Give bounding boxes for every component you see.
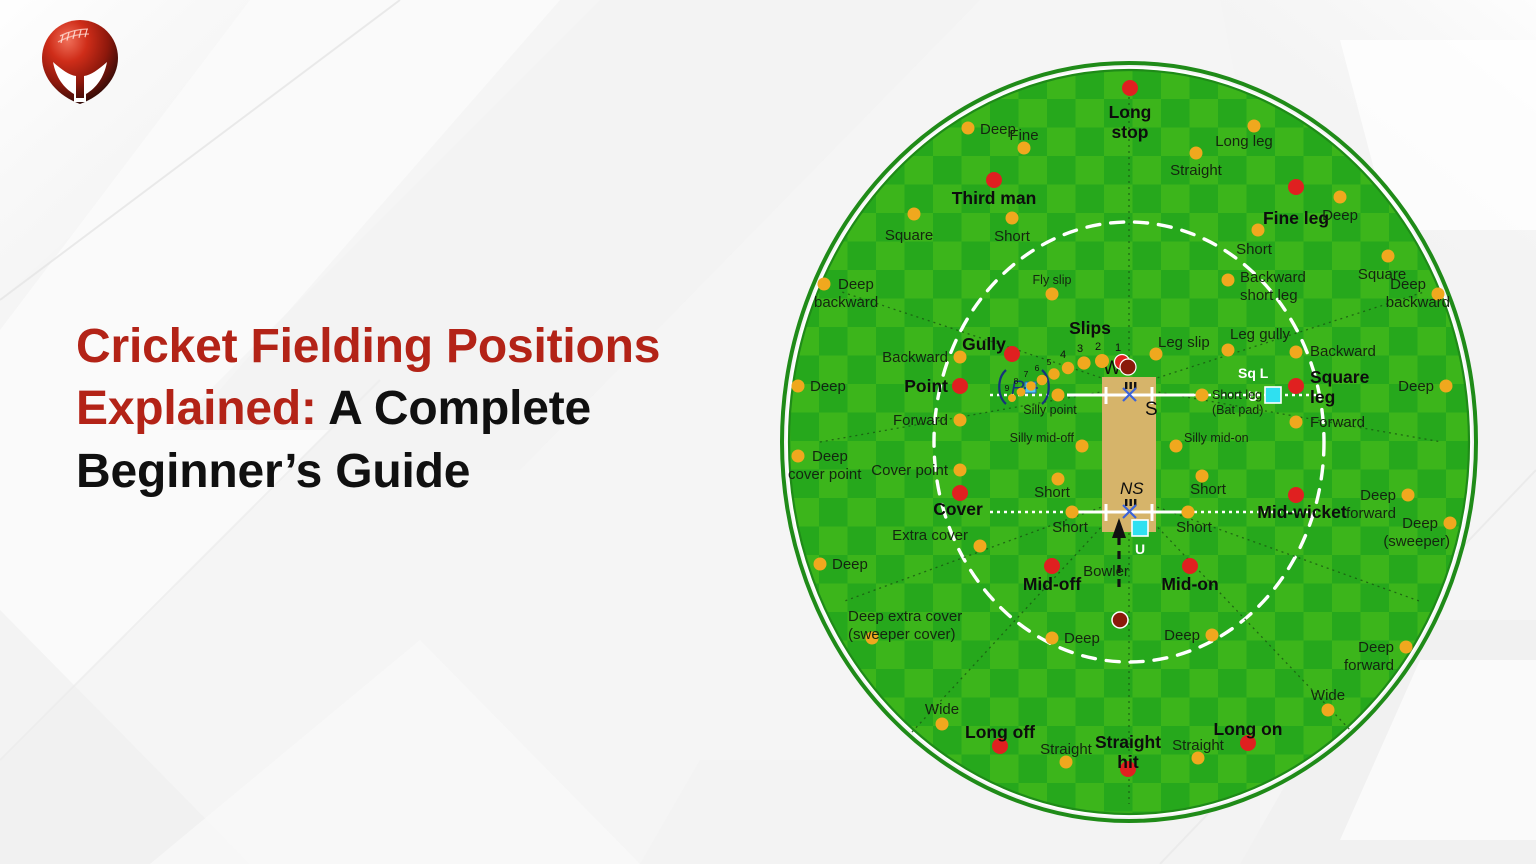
label-straight-long-off: Straight [1040, 741, 1093, 758]
slip-8-number: 8 [1014, 376, 1019, 386]
label-square-leg-2: leg [1310, 387, 1335, 407]
mid-on-dot[interactable] [1182, 558, 1198, 574]
deep-mid-off-dot[interactable] [1046, 632, 1059, 645]
deep-square-leg-dot[interactable] [1440, 380, 1453, 393]
label-deep-sweeper-2: (sweeper) [1383, 533, 1450, 550]
label-silly-mid-off: Silly mid-off [1010, 431, 1075, 445]
label-leg-gully: Leg gully [1230, 326, 1291, 343]
label-long-stop-2: stop [1112, 122, 1149, 142]
label-straight-long-on: Straight [1172, 737, 1225, 754]
fine-leg-dot[interactable] [1288, 179, 1304, 195]
label-backward-short-leg-1: Backward [1240, 269, 1306, 286]
label-forward-point: Forward [893, 412, 948, 429]
slip-9-dot[interactable] [1008, 394, 1016, 402]
label-backward-square-leg: Backward [1310, 343, 1376, 360]
label-short-mid-wicket: Short [1176, 519, 1213, 536]
third-man-dot[interactable] [986, 172, 1002, 188]
slip-2-number: 2 [1095, 341, 1101, 353]
label-fine-leg: Fine leg [1263, 208, 1329, 228]
non-striker-label: NS [1120, 479, 1144, 498]
label-short-mid-off: Short [1034, 484, 1071, 501]
deep-backward-point-dot[interactable] [818, 278, 831, 291]
short-leg-dot[interactable] [1196, 389, 1209, 402]
label-fly-slip: Fly slip [1033, 273, 1072, 287]
label-deep-cover-point-2: cover point [788, 466, 862, 483]
title-line-2-rest: A Complete [317, 382, 591, 435]
mid-off-dot[interactable] [1044, 558, 1060, 574]
deep-sweeper-dot[interactable] [1444, 517, 1457, 530]
slip-7-number: 7 [1024, 369, 1029, 379]
label-deep-backward-point-1: Deep [838, 276, 874, 293]
page-title: Cricket Fielding Positions Explained: A … [76, 316, 776, 503]
deep-fine-dot[interactable] [962, 122, 975, 135]
deep-extra-cover-side-dot[interactable] [814, 558, 827, 571]
label-deep-sweeper-1: Deep [1402, 515, 1438, 532]
bowlers-end-umpire-box [1132, 520, 1148, 536]
long-stop-dot[interactable] [1122, 80, 1138, 96]
label-short-leg-1: Short leg [1212, 388, 1262, 402]
backward-short-leg-dot[interactable] [1222, 274, 1235, 287]
label-backward-point: Backward [882, 349, 948, 366]
deep-point-dot[interactable] [792, 380, 805, 393]
label-extra-cover: Extra cover [892, 527, 968, 544]
slip-5-dot[interactable] [1048, 368, 1059, 379]
label-wide-long-off: Wide [925, 701, 959, 718]
label-straight-hit-1: Straight [1095, 732, 1161, 752]
label-deep-extra-cover-1: Deep extra cover [848, 608, 962, 625]
label-deep-mid-on: Deep [1164, 627, 1200, 644]
fly-slip-dot[interactable] [1046, 288, 1059, 301]
title-line-1: Cricket Fielding Positions [76, 320, 660, 373]
slip-4-number: 4 [1060, 349, 1066, 361]
cricket-fielding-positions-diagram: S NS WK U Sq L U R 1 2 3 4 5 6 7 8 [762, 42, 1536, 842]
label-deep-square-leg: Deep [1398, 378, 1434, 395]
slip-1-number: 1 [1115, 342, 1121, 354]
label-leg-slip: Leg slip [1158, 334, 1210, 351]
label-long-leg: Long leg [1215, 133, 1273, 150]
label-short-cover: Short [1052, 519, 1089, 536]
silly-mid-on-dot[interactable] [1170, 440, 1183, 453]
label-short-mid-on: Short [1190, 481, 1227, 498]
label-deep-fine-leg: Deep [1322, 207, 1358, 224]
long-leg-dot[interactable] [1248, 120, 1261, 133]
brand-logo[interactable] [38, 18, 122, 106]
label-cover-point: Cover point [871, 462, 949, 479]
label-cover: Cover [933, 499, 983, 519]
deep-mid-on-dot[interactable] [1206, 629, 1219, 642]
leg-gully-dot[interactable] [1222, 344, 1235, 357]
label-third-man: Third man [952, 188, 1037, 208]
silly-mid-off-dot[interactable] [1076, 440, 1089, 453]
forward-point-dot[interactable] [954, 414, 967, 427]
label-long-off: Long off [965, 722, 1035, 742]
wide-long-on-dot[interactable] [1322, 704, 1335, 717]
mid-wicket-dot[interactable] [1288, 487, 1304, 503]
square-leg-umpire-label: Sq L [1238, 365, 1269, 381]
slip-2-dot[interactable] [1095, 354, 1109, 368]
slip-6-dot[interactable] [1037, 375, 1048, 386]
label-deep-fine: Deep [980, 121, 1016, 138]
point-dot[interactable] [952, 378, 968, 394]
slip-3-dot[interactable] [1077, 356, 1090, 369]
striker-label: S [1145, 399, 1158, 420]
slip-4-dot[interactable] [1062, 362, 1074, 374]
label-deep-point: Deep [810, 378, 846, 395]
forward-square-leg-dot[interactable] [1290, 416, 1303, 429]
label-straight-hit-2: hit [1117, 752, 1139, 772]
label-short-leg-2: (Bat pad) [1212, 403, 1263, 417]
label-mid-off: Mid-off [1023, 574, 1081, 594]
slip-8-dot[interactable] [1017, 388, 1026, 397]
label-deep-backward-sq-1: Deep [1390, 276, 1426, 293]
silly-point-dot[interactable] [1052, 389, 1065, 402]
deep-forward-sq-dot[interactable] [1402, 489, 1415, 502]
label-deep-forward-1: Deep [1358, 639, 1394, 656]
deep-forward-dot[interactable] [1400, 641, 1413, 654]
label-deep-forward-2: forward [1344, 657, 1394, 674]
slips-group-label: Slips [1069, 318, 1111, 338]
bowler-dot[interactable] [1112, 612, 1128, 628]
label-silly-point: Silly point [1023, 403, 1077, 417]
label-forward-square-leg: Forward [1310, 414, 1365, 431]
short-mid-wicket-dot[interactable] [1182, 506, 1195, 519]
label-straight-long-leg: Straight [1170, 162, 1223, 179]
square-third-man-dot[interactable] [908, 208, 921, 221]
label-wide-long-on: Wide [1311, 687, 1345, 704]
label-short-fine-leg: Short [1236, 241, 1273, 258]
title-line-2-accent: Explained: [76, 382, 317, 435]
label-long-on: Long on [1213, 719, 1282, 739]
short-cover-dot[interactable] [1066, 506, 1079, 519]
short-third-man-dot[interactable] [1006, 212, 1019, 225]
slip-5-number: 5 [1047, 357, 1052, 367]
cover-point-dot[interactable] [954, 464, 967, 477]
slip-7-dot[interactable] [1026, 381, 1036, 391]
deep-cover-point-dot[interactable] [792, 450, 805, 463]
label-deep-extra-side: Deep [832, 556, 868, 573]
backward-square-leg-dot[interactable] [1290, 346, 1303, 359]
straight-long-leg-dot[interactable] [1190, 147, 1203, 160]
square-leg-dot[interactable] [1288, 378, 1304, 394]
wide-long-off-dot[interactable] [936, 718, 949, 731]
label-deep-forward-sq-2: forward [1346, 505, 1396, 522]
deep-fine-leg-dot[interactable] [1334, 191, 1347, 204]
label-deep-mid-off: Deep [1064, 630, 1100, 647]
label-deep-cover-point-1: Deep [812, 448, 848, 465]
slip-9-number: 9 [1005, 383, 1010, 393]
label-backward-short-leg-2: short leg [1240, 287, 1298, 304]
label-deep-forward-sq-1: Deep [1360, 487, 1396, 504]
bowlers-end-umpire-label: U [1135, 541, 1145, 557]
slip-6-number: 6 [1035, 363, 1040, 373]
label-bowler: Bowler [1083, 563, 1129, 580]
label-square-leg-1: Square [1310, 367, 1370, 387]
label-deep-extra-cover-2: (sweeper cover) [848, 626, 956, 643]
slip-3-number: 3 [1077, 343, 1083, 355]
label-gully: Gully [962, 334, 1006, 354]
label-deep-backward-sq-2: backward [1386, 294, 1450, 311]
label-deep-backward-point-2: backward [814, 294, 878, 311]
title-line-3: Beginner’s Guide [76, 445, 470, 498]
extra-cover-dot[interactable] [974, 540, 987, 553]
label-mid-on: Mid-on [1161, 574, 1218, 594]
wicket-keeper-dot[interactable] [1120, 359, 1136, 375]
square-leg-umpire-box [1265, 387, 1281, 403]
label-short-third-man: Short [994, 228, 1031, 245]
label-square-third-man: Square [885, 227, 933, 244]
label-point: Point [904, 376, 948, 396]
square-leg-deep-dot[interactable] [1382, 250, 1395, 263]
label-long-stop-1: Long [1109, 102, 1152, 122]
gully-dot[interactable] [1004, 346, 1020, 362]
label-mid-wicket: Mid-wicket [1257, 502, 1347, 522]
label-silly-mid-on: Silly mid-on [1184, 431, 1249, 445]
